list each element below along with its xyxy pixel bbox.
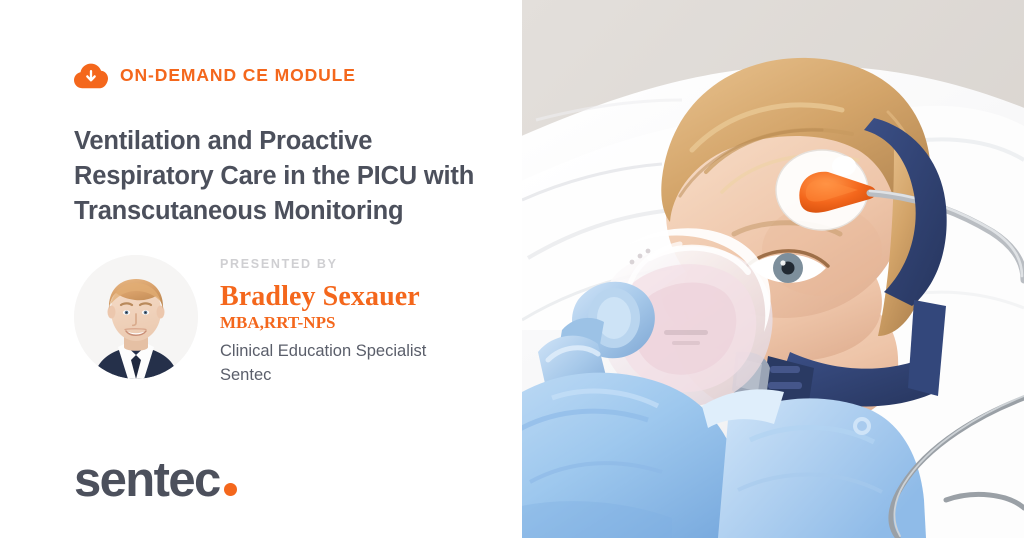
presenter-name: Bradley Sexauer (220, 282, 426, 311)
presenter-organization: Sentec (220, 364, 426, 388)
presenter-role: Clinical Education Specialist (220, 340, 426, 364)
eyebrow: ON-DEMAND CE MODULE (74, 62, 356, 89)
avatar (74, 255, 198, 379)
sentec-logo: sentec (74, 456, 237, 505)
cloud-download-icon (74, 62, 108, 89)
hero-photo (522, 0, 1024, 538)
page-title: Ventilation and Proactive Respiratory Ca… (74, 124, 489, 229)
promo-card: ON-DEMAND CE MODULE Ventilation and Proa… (0, 0, 1024, 538)
eyebrow-label: ON-DEMAND CE MODULE (120, 65, 356, 86)
presenter-block: PRESENTED BY Bradley Sexauer MBA,RRT-NPS… (74, 255, 426, 388)
left-content-panel: ON-DEMAND CE MODULE Ventilation and Proa… (0, 0, 522, 538)
presented-by-label: PRESENTED BY (220, 257, 426, 271)
presenter-credentials: MBA,RRT-NPS (220, 312, 426, 334)
presenter-details: PRESENTED BY Bradley Sexauer MBA,RRT-NPS… (220, 255, 426, 388)
logo-wordmark: sentec (74, 456, 220, 505)
logo-dot (224, 483, 237, 496)
